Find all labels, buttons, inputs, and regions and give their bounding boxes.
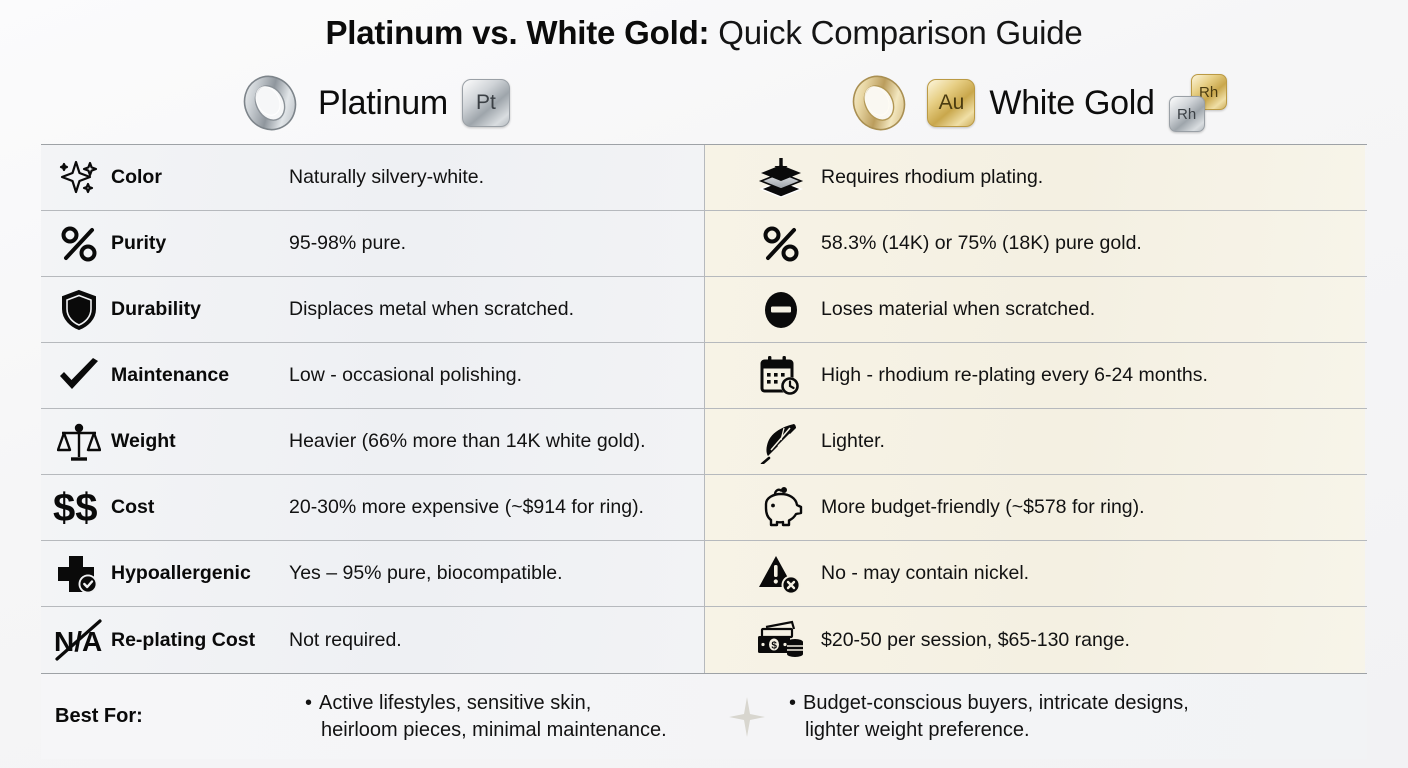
svg-text:$$: $$ (53, 487, 98, 529)
row-value-white-gold: More budget-friendly (~$578 for ring). (821, 496, 1145, 519)
row-replating-platinum: N/A Re-plating Cost Not required. (41, 607, 705, 673)
piggy-bank-icon (749, 487, 813, 529)
row-cost-platinum: $$ Cost 20-30% more expensive (~$914 for… (41, 475, 705, 540)
row-value-platinum: Heavier (66% more than 14K white gold). (289, 430, 646, 453)
row-purity-platinum: Purity 95-98% pure. (41, 211, 705, 276)
title-strong: Platinum vs. White Gold: (325, 14, 709, 51)
silver-ring-icon (236, 74, 304, 132)
table-row: Durability Displaces metal when scratche… (41, 277, 1367, 343)
row-value-white-gold: High - rhodium re-plating every 6-24 mon… (821, 364, 1208, 387)
row-value-white-gold: Requires rhodium plating. (821, 166, 1043, 189)
feather-icon (749, 420, 813, 464)
row-replating-white-gold: $ $20-50 per session, $65-130 range. (705, 607, 1365, 673)
column-headers: Platinum Pt Au White Gold Rh Rh (41, 62, 1367, 144)
platinum-name: Platinum (318, 84, 448, 123)
table-row: N/A Re-plating Cost Not required. $ (41, 607, 1367, 673)
sparkle-divider-icon (705, 695, 789, 739)
sparkles-icon (51, 158, 107, 198)
gold-ring-icon (845, 74, 913, 132)
best-for-white-gold: •Budget-conscious buyers, intricate desi… (705, 674, 1365, 759)
row-durability-platinum: Durability Displaces metal when scratche… (41, 277, 705, 342)
double-dollar-icon: $$ (51, 487, 107, 529)
percent-icon (749, 224, 813, 264)
row-label: Cost (111, 496, 289, 519)
row-label: Re-plating Cost (111, 629, 289, 652)
not-applicable-icon: N/A (51, 619, 107, 661)
row-color-platinum: Color Naturally silvery-white. (41, 145, 705, 210)
rhodium-badge-stack: Rh Rh (1169, 74, 1227, 132)
best-for-white-gold-line1: Budget-conscious buyers, intricate desig… (803, 692, 1189, 714)
row-value-platinum: Displaces metal when scratched. (289, 298, 574, 321)
row-maintenance-platinum: Maintenance Low - occasional polishing. (41, 343, 705, 408)
best-for-section: Best For: •Active lifestyles, sensitive … (41, 673, 1367, 759)
white-gold-name: White Gold (989, 84, 1154, 123)
table-row: Color Naturally silvery-white. (41, 145, 1367, 211)
row-weight-white-gold: Lighter. (705, 409, 1365, 474)
best-for-white-gold-line2: lighter weight preference. (805, 719, 1030, 741)
row-value-platinum: Naturally silvery-white. (289, 166, 484, 189)
row-value-platinum: Low - occasional polishing. (289, 364, 522, 387)
row-value-white-gold: $20-50 per session, $65-130 range. (821, 629, 1130, 652)
best-for-white-gold-list: •Budget-conscious buyers, intricate desi… (789, 690, 1189, 743)
cash-coins-icon: $ (749, 619, 813, 661)
row-label: Weight (111, 430, 289, 453)
row-label: Purity (111, 232, 289, 255)
row-purity-white-gold: 58.3% (14K) or 75% (18K) pure gold. (705, 211, 1365, 276)
comparison-table: Color Naturally silvery-white. (41, 144, 1367, 673)
table-row: $$ Cost 20-30% more expensive (~$914 for… (41, 475, 1367, 541)
row-maintenance-white-gold: High - rhodium re-plating every 6-24 mon… (705, 343, 1365, 408)
checkmark-icon (51, 358, 107, 394)
row-value-white-gold: Lighter. (821, 430, 885, 453)
row-label: Maintenance (111, 364, 289, 387)
title-light: Quick Comparison Guide (709, 14, 1082, 51)
row-label: Durability (111, 298, 289, 321)
gold-element-badge: Au (927, 79, 975, 127)
row-label: Hypoallergenic (111, 562, 289, 585)
bullet-marker: • (305, 692, 312, 714)
platinum-element-badge: Pt (462, 79, 510, 127)
column-header-platinum: Platinum Pt (41, 74, 705, 132)
row-value-platinum: Not required. (289, 629, 402, 652)
percent-icon (51, 224, 107, 264)
medical-cross-check-icon (51, 552, 107, 596)
best-for-platinum-list: •Active lifestyles, sensitive skin, heir… (305, 690, 667, 743)
layers-download-icon (749, 157, 813, 199)
row-hypoallergenic-white-gold: No - may contain nickel. (705, 541, 1365, 606)
row-hypoallergenic-platinum: Hypoallergenic Yes – 95% pure, biocompat… (41, 541, 705, 606)
table-row: Weight Heavier (66% more than 14K white … (41, 409, 1367, 475)
row-value-platinum: 20-30% more expensive (~$914 for ring). (289, 496, 644, 519)
rhodium-badge-silver: Rh (1169, 96, 1205, 132)
svg-text:$: $ (771, 641, 777, 652)
row-label: Color (111, 166, 289, 189)
row-value-white-gold: 58.3% (14K) or 75% (18K) pure gold. (821, 232, 1142, 255)
table-row: Purity 95-98% pure. 58.3% (14K) or 75% (… (41, 211, 1367, 277)
row-value-white-gold: No - may contain nickel. (821, 562, 1029, 585)
row-value-platinum: 95-98% pure. (289, 232, 406, 255)
row-weight-platinum: Weight Heavier (66% more than 14K white … (41, 409, 705, 474)
best-for-platinum: Best For: •Active lifestyles, sensitive … (41, 674, 705, 759)
bullet-marker: • (789, 692, 796, 714)
row-value-platinum: Yes – 95% pure, biocompatible. (289, 562, 563, 585)
calendar-clock-icon (749, 354, 813, 398)
row-durability-white-gold: Loses material when scratched. (705, 277, 1365, 342)
row-value-white-gold: Loses material when scratched. (821, 298, 1095, 321)
best-for-title: Best For: (55, 705, 305, 728)
page-title: Platinum vs. White Gold: Quick Compariso… (0, 0, 1408, 62)
table-row: Hypoallergenic Yes – 95% pure, biocompat… (41, 541, 1367, 607)
best-for-platinum-line2: heirloom pieces, minimal maintenance. (321, 719, 667, 741)
shield-icon (51, 289, 107, 331)
warning-x-icon (749, 552, 813, 596)
table-row: Maintenance Low - occasional polishing. (41, 343, 1367, 409)
row-cost-white-gold: More budget-friendly (~$578 for ring). (705, 475, 1365, 540)
balance-scale-icon (51, 421, 107, 463)
minus-circle-icon (749, 289, 813, 331)
best-for-platinum-line1: Active lifestyles, sensitive skin, (319, 692, 591, 714)
row-color-white-gold: Requires rhodium plating. (705, 145, 1365, 210)
column-header-white-gold: Au White Gold Rh Rh (705, 74, 1367, 132)
